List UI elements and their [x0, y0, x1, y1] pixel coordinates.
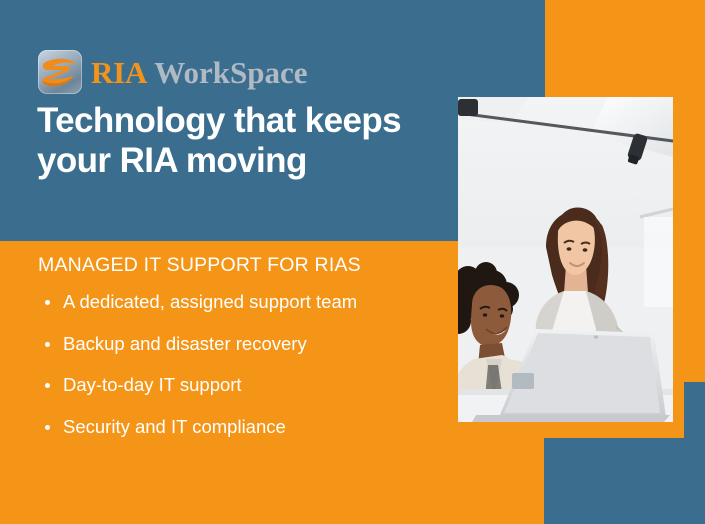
page-title: Technology that keeps your RIA moving	[37, 101, 437, 180]
brand-wordmark: RIAWorkSpace	[91, 57, 308, 88]
blue-bottom-right-accent	[544, 438, 705, 524]
list-item: A dedicated, assigned support team	[38, 290, 418, 314]
ria-swoosh-logo-icon	[38, 50, 82, 94]
section-eyebrow: MANAGED IT SUPPORT FOR RIAS	[38, 254, 361, 277]
brand-name-primary: RIA	[91, 55, 147, 90]
brand-name-secondary: WorkSpace	[154, 55, 307, 90]
brand-logo: RIAWorkSpace	[38, 50, 308, 94]
list-item: Security and IT compliance	[38, 415, 418, 439]
feature-list: A dedicated, assigned support team Backu…	[38, 290, 418, 457]
list-item: Backup and disaster recovery	[38, 332, 418, 356]
list-item: Day-to-day IT support	[38, 373, 418, 397]
marketing-slide: RIAWorkSpace Technology that keeps your …	[0, 0, 705, 524]
office-photo	[458, 97, 673, 422]
blue-right-edge-accent	[684, 382, 705, 524]
